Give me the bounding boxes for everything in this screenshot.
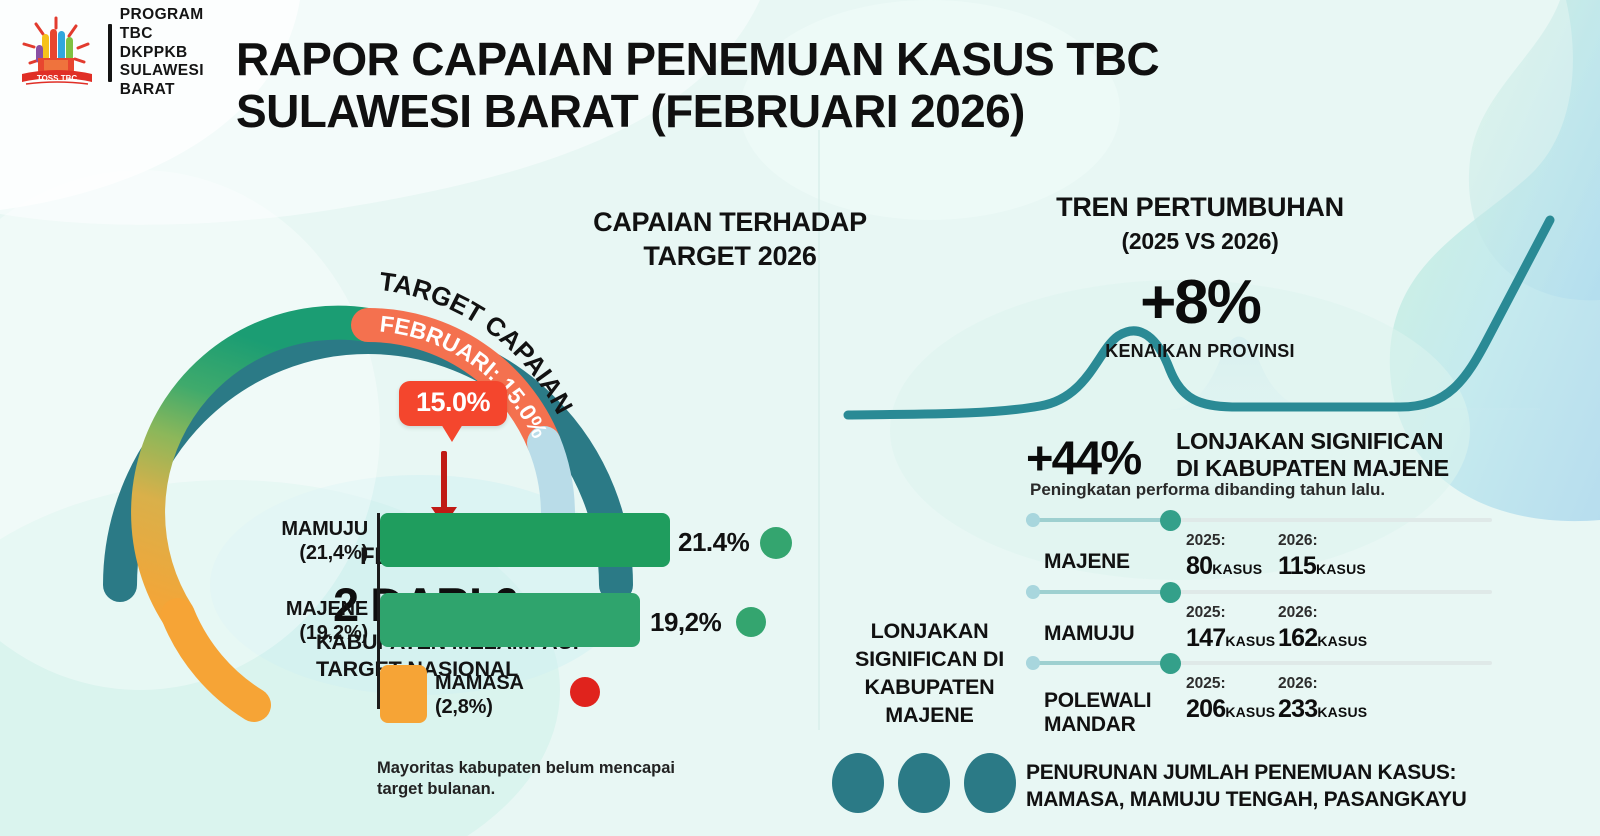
logo-line-3: SULAWESI BARAT xyxy=(120,62,229,100)
logo-text-block: PROGRAM TBC DKPPKB SULAWESI BARAT xyxy=(120,6,229,101)
bar-value-majene: 19,2% xyxy=(650,607,721,638)
region-2025-number-majene: 80 xyxy=(1186,552,1212,580)
region-slider-majene[interactable] xyxy=(1026,518,1492,522)
gauge-inner-ring-tail xyxy=(178,615,254,705)
lonjakan-title: LONJAKAN SIGNIFICAN DI KABUPATEN MAJENE xyxy=(1176,428,1449,482)
page-title-line-1: RAPOR CAPAIAN PENEMUAN KASUS TBC xyxy=(236,33,1159,85)
bar-label-mamasa-value: (2,8%) xyxy=(435,695,565,719)
bar-label-majene-name: MAJENE xyxy=(250,597,368,621)
penurunan-callout: PENURUNAN JUMLAH PENEMUAN KASUS: MAMASA,… xyxy=(1026,759,1586,814)
region-2026-value-polewali-mandar: 233KASUS xyxy=(1278,695,1367,724)
logo-line-2: DKPPKB xyxy=(120,44,229,63)
region-slider-fill-mamuju xyxy=(1026,590,1168,594)
region-2026-unit-mamuju: KASUS xyxy=(1317,633,1367,649)
region-2025-value-polewali-mandar: 206KASUS xyxy=(1186,695,1275,724)
bar-label-majene: MAJENE (19,2%) xyxy=(250,597,368,645)
region-slider-knob-start-polewali-mandar[interactable] xyxy=(1026,656,1040,670)
trend-title-sub: (2025 VS 2026) xyxy=(1000,228,1400,255)
region-name-majene: MAJENE xyxy=(1044,550,1130,574)
region-2025-label-majene: 2025: xyxy=(1186,532,1226,550)
region-2026-value-majene: 115KASUS xyxy=(1278,552,1366,581)
bar-label-mamuju: MAMUJU (21,4%) xyxy=(250,517,368,565)
lonjakan-side-line-2: SIGNIFICAN DI xyxy=(832,646,1027,674)
region-2025-label-polewali-mandar: 2025: xyxy=(1186,675,1226,693)
region-name-polewali-mandar-l2: MANDAR xyxy=(1044,713,1151,737)
bar-label-mamuju-value: (21,4%) xyxy=(250,541,368,565)
region-slider-knob-start-mamuju[interactable] xyxy=(1026,585,1040,599)
region-slider-fill-polewali-mandar xyxy=(1026,661,1168,665)
page-title-line-2: SULAWESI BARAT (FEBRUARI 2026) xyxy=(236,86,1356,138)
gauge-value-badge: 15.0% xyxy=(399,381,507,426)
bar-label-mamuju-name: MAMUJU xyxy=(250,517,368,541)
bar-mamuju xyxy=(380,513,670,567)
lonjakan-side-line-4: MAJENE xyxy=(832,702,1027,730)
lonjakan-side-callout: LONJAKAN SIGNIFICAN DI KABUPATEN MAJENE xyxy=(832,618,1027,730)
trend-title-main: TREN PERTUMBUHAN xyxy=(1056,192,1344,222)
region-slider-knob-end-polewali-mandar[interactable] xyxy=(1160,653,1181,674)
region-slider-knob-end-mamuju[interactable] xyxy=(1160,582,1181,603)
logo-divider xyxy=(108,24,112,82)
region-name-majene-l1: MAJENE xyxy=(1044,550,1130,574)
region-slider-fill-majene xyxy=(1026,518,1168,522)
region-2026-label-polewali-mandar: 2026: xyxy=(1278,675,1318,693)
region-name-polewali-mandar-l1: POLEWALI xyxy=(1044,689,1151,713)
trend-big-value: +8% xyxy=(1000,272,1400,334)
bar-majene xyxy=(380,593,640,647)
bar-status-dot-majene xyxy=(736,607,766,637)
penurunan-line-1: PENURUNAN JUMLAH PENEMUAN KASUS: xyxy=(1026,759,1586,786)
lonjakan-title-line-1: LONJAKAN SIGNIFICAN xyxy=(1176,428,1449,455)
bar-chart: MAMUJU (21,4%) 21.4% MAJENE (19,2%) 19,2… xyxy=(250,505,810,735)
region-slider-mamuju[interactable] xyxy=(1026,590,1492,594)
bar-label-majene-value: (19,2%) xyxy=(250,621,368,645)
brand-logo: TOSS TBC PROGRAM TBC DKPPKB SULAWESI BAR… xyxy=(14,14,229,92)
decorative-circle-1 xyxy=(832,753,884,813)
region-slider-knob-start-majene[interactable] xyxy=(1026,513,1040,527)
region-2026-number-majene: 115 xyxy=(1278,552,1316,580)
region-slider-knob-end-majene[interactable] xyxy=(1160,510,1181,531)
toss-tbc-hand-icon: TOSS TBC xyxy=(14,14,100,92)
region-2026-label-majene: 2026: xyxy=(1278,532,1318,550)
bar-value-mamuju: 21.4% xyxy=(678,527,749,558)
region-2026-number-polewali-mandar: 233 xyxy=(1278,695,1317,723)
region-2026-unit-polewali-mandar: KASUS xyxy=(1317,704,1367,720)
region-2025-unit-majene: KASUS xyxy=(1212,561,1262,577)
lonjakan-side-line-1: LONJAKAN xyxy=(832,618,1027,646)
infographic-canvas: TOSS TBC PROGRAM TBC DKPPKB SULAWESI BAR… xyxy=(0,0,1600,836)
region-2026-value-mamuju: 162KASUS xyxy=(1278,624,1367,653)
decorative-circle-2 xyxy=(898,753,950,813)
region-2026-number-mamuju: 162 xyxy=(1278,624,1317,652)
region-2025-unit-polewali-mandar: KASUS xyxy=(1225,704,1275,720)
decorative-circle-3 xyxy=(964,753,1016,813)
page-title: RAPOR CAPAIAN PENEMUAN KASUS TBC SULAWES… xyxy=(236,34,1356,137)
region-2025-unit-mamuju: KASUS xyxy=(1225,633,1275,649)
bar-chart-note: Mayoritas kabupaten belum mencapai targe… xyxy=(377,758,707,801)
lonjakan-subtext: Peningkatan performa dibanding tahun lal… xyxy=(1030,480,1385,500)
lonjakan-percent: +44% xyxy=(1026,430,1140,485)
bar-label-mamasa: MAMASA (2,8%) xyxy=(435,671,565,719)
trend-title: TREN PERTUMBUHAN (2025 VS 2026) xyxy=(1000,192,1400,255)
trend-caption: KENAIKAN PROVINSI xyxy=(1000,341,1400,362)
decorative-circle-group xyxy=(832,753,1016,813)
lonjakan-title-line-2: DI KABUPATEN MAJENE xyxy=(1176,455,1449,482)
penurunan-line-2: MAMASA, MAMUJU TENGAH, PASANGKAYU xyxy=(1026,786,1586,813)
region-name-mamuju: MAMUJU xyxy=(1044,622,1134,646)
lonjakan-side-line-3: KABUPATEN xyxy=(832,674,1027,702)
region-name-mamuju-l1: MAMUJU xyxy=(1044,622,1134,646)
region-2025-value-mamuju: 147KASUS xyxy=(1186,624,1275,653)
region-2025-number-mamuju: 147 xyxy=(1186,624,1225,652)
region-2026-unit-majene: KASUS xyxy=(1316,561,1366,577)
region-2025-label-mamuju: 2025: xyxy=(1186,604,1226,622)
bar-mamasa xyxy=(380,665,427,723)
region-slider-polewali-mandar[interactable] xyxy=(1026,661,1492,665)
region-2025-number-polewali-mandar: 206 xyxy=(1186,695,1225,723)
logo-line-1: PROGRAM TBC xyxy=(120,6,229,44)
region-2026-label-mamuju: 2026: xyxy=(1278,604,1318,622)
region-2025-value-majene: 80KASUS xyxy=(1186,552,1262,581)
bar-label-mamasa-name: MAMASA xyxy=(435,671,565,695)
bar-status-dot-mamuju xyxy=(760,527,792,559)
region-name-polewali-mandar: POLEWALI MANDAR xyxy=(1044,689,1151,736)
bar-status-dot-mamasa xyxy=(570,677,600,707)
